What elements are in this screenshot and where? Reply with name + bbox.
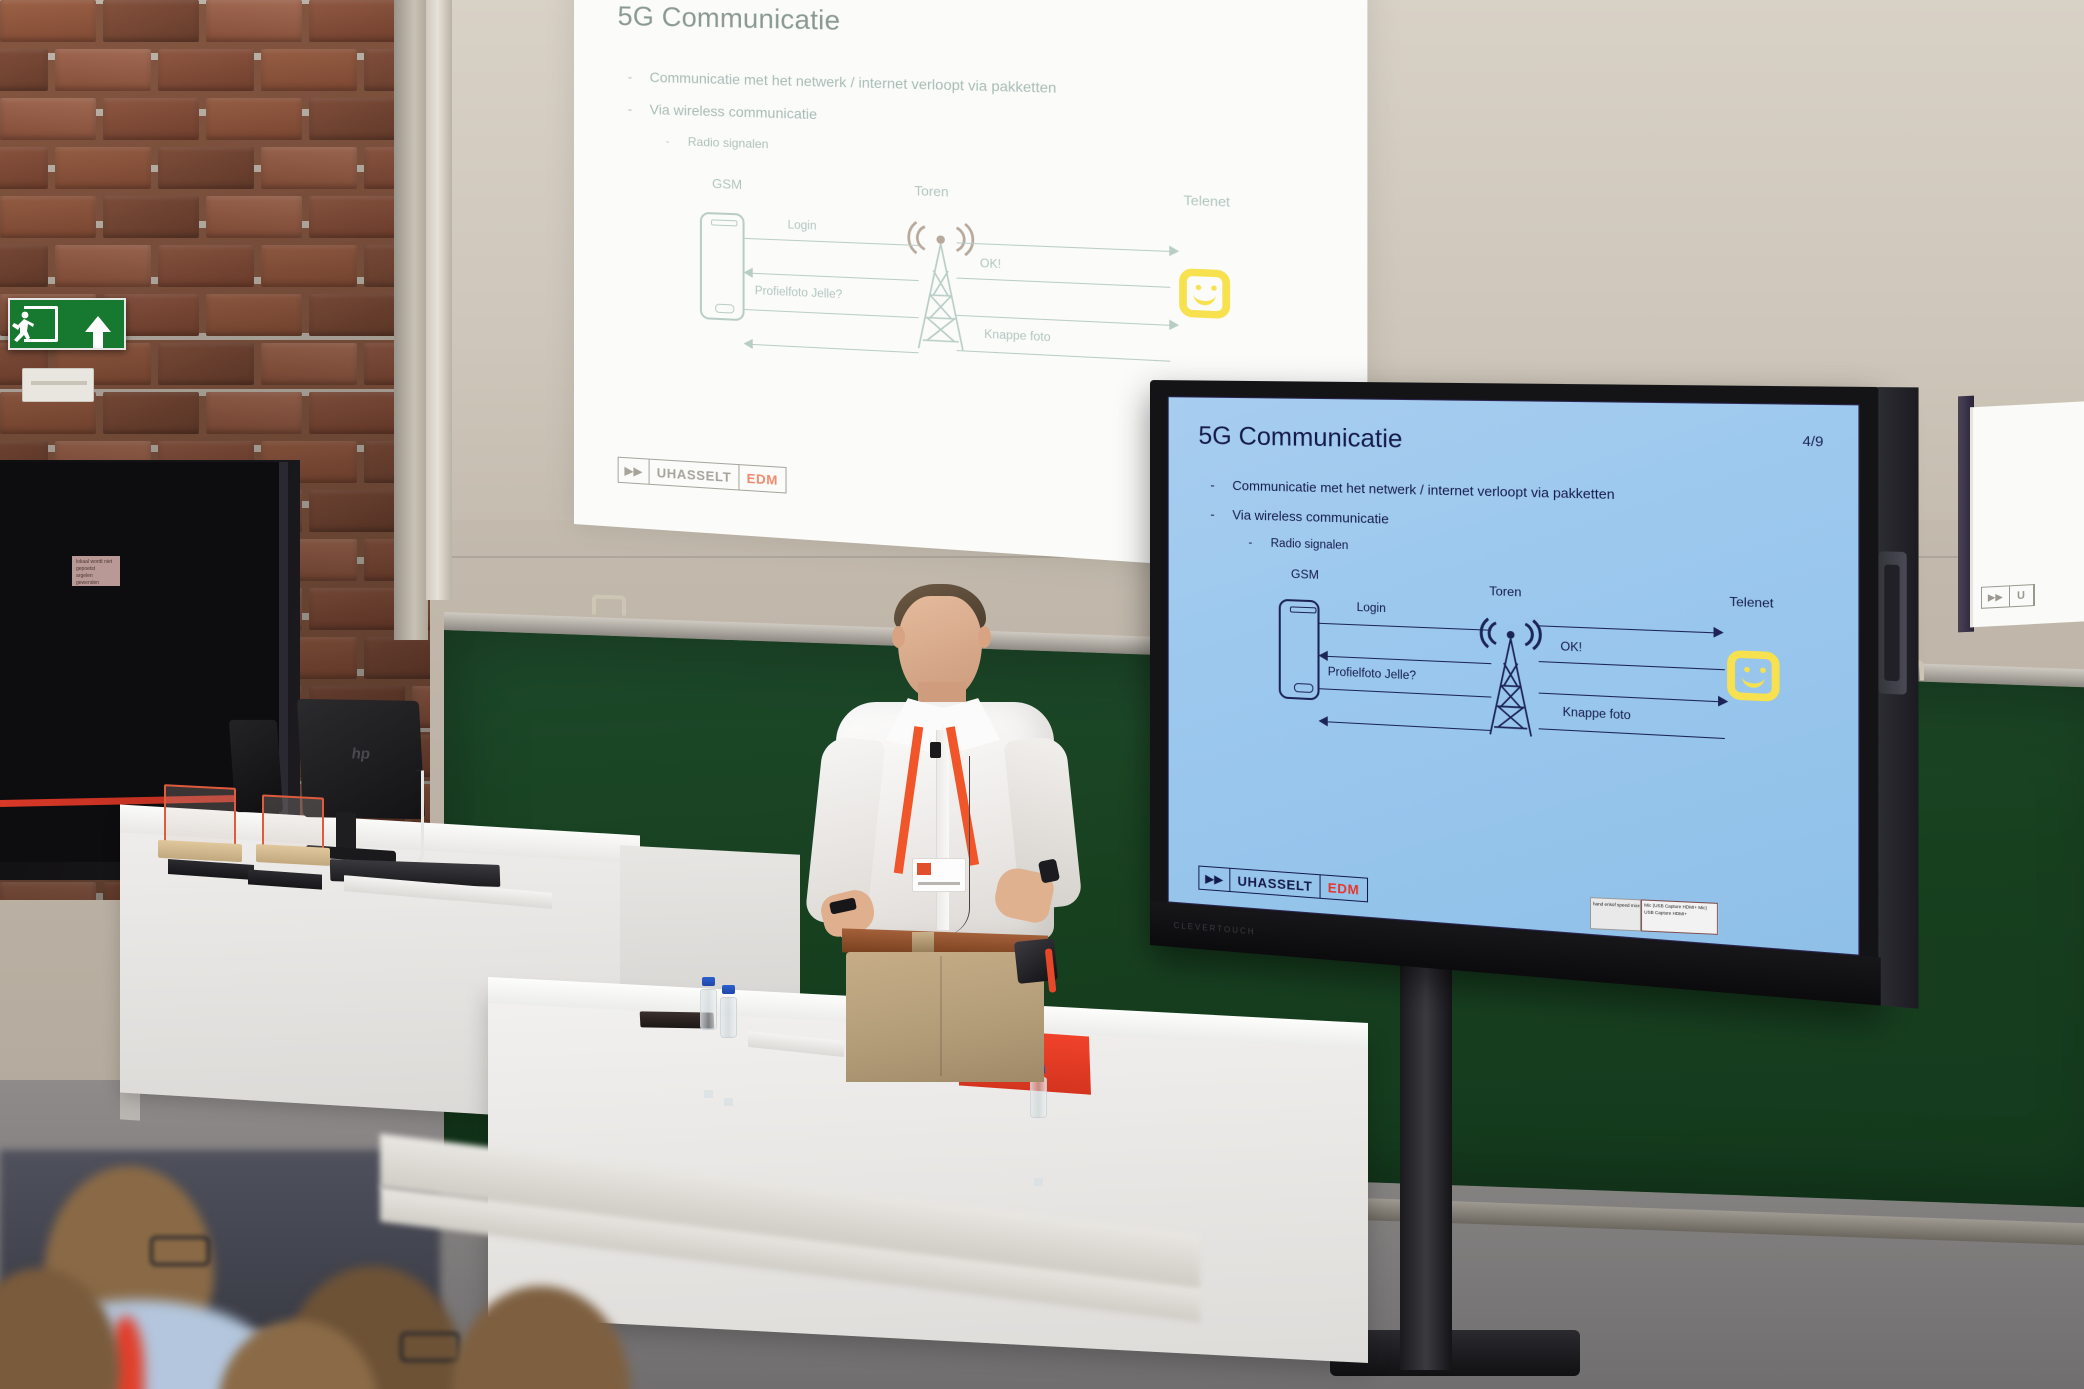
acrylic-award-2 — [262, 794, 324, 851]
tv-phone-icon — [1279, 599, 1320, 701]
tv-telenet-smiley-icon — [1727, 650, 1779, 702]
tv-side-panel — [1878, 387, 1918, 1009]
acrylic-award-base-2 — [256, 844, 330, 866]
tv-msg-line-2b — [1539, 661, 1725, 670]
projected-arrow-right-2 — [1169, 319, 1179, 330]
secondary-logo-u: U — [2010, 585, 2034, 606]
projected-msg-profielfoto: Profielfoto Jelle? — [755, 285, 843, 301]
presenter-trouser-seam — [940, 956, 942, 1076]
projected-msg-line-3b — [957, 315, 1171, 326]
lecture-hall-scene: lokaal wordt niet gepoetst argelen gewen… — [0, 0, 2084, 1389]
tv-slide-title: 5G Communicatie — [1198, 422, 1828, 463]
projected-actor-telenet: Telenet — [1184, 192, 1230, 210]
tv-logo-edm: EDM — [1321, 875, 1367, 901]
tv-msg-line-1b — [1539, 625, 1716, 633]
tv-logo-uhasselt: UHASSELT — [1230, 869, 1320, 898]
projected-subbullet-1: Radio signalen — [688, 135, 1318, 170]
logo-uhasselt: UHASSELT — [650, 460, 740, 490]
audience-glasses-1 — [150, 1236, 210, 1266]
lapel-microphone-icon — [930, 742, 941, 758]
projected-msg-line-1b — [957, 242, 1171, 252]
projected-bullet-2: Via wireless communicatie — [650, 101, 1318, 137]
tv-msg-line-4b — [1539, 728, 1725, 739]
acrylic-award-1 — [164, 784, 236, 848]
projected-msg-knappe: Knappe foto — [984, 329, 1050, 345]
projected-arrow-left-2 — [744, 338, 753, 349]
window-frame-inner — [426, 0, 452, 600]
audio-device-popup[interactable]: hand erisof speed micro → Mic (USB Captu… — [1590, 897, 1718, 935]
projected-actor-gsm: GSM — [712, 176, 742, 192]
tv-actor-gsm: GSM — [1291, 567, 1319, 582]
projected-msg-line-4b — [957, 350, 1171, 362]
tv-actor-toren: Toren — [1489, 584, 1521, 600]
secondary-uhasselt-logo: ▶▶ U — [1981, 584, 2035, 609]
tv-msg-line-3a — [1320, 688, 1492, 697]
tv-msg-login: Login — [1357, 602, 1386, 615]
tv-msg-line-4a — [1328, 721, 1492, 731]
projected-phone-icon — [700, 212, 745, 321]
bottle-cap-icon — [702, 977, 715, 986]
flat-panel-display[interactable]: 5G Communicatie 4/9 Communicatie met het… — [1150, 380, 1881, 1006]
projected-msg-line-3a — [745, 309, 919, 318]
notice-line-4: gewenden — [76, 580, 116, 586]
projected-bullet-1: Communicatie met het netwerk / internet … — [650, 69, 1318, 103]
tv-msg-knappe: Knappe foto — [1563, 706, 1631, 722]
tv-arrow-right-2 — [1718, 696, 1728, 707]
wireless-mic-transmitter — [1014, 938, 1058, 984]
wall-mounted-box — [22, 368, 94, 402]
tv-carry-handle[interactable] — [1878, 551, 1906, 695]
water-bottle-1 — [700, 978, 717, 1030]
up-arrow-icon — [85, 316, 111, 332]
tv-msg-ok: OK! — [1560, 641, 1582, 655]
projected-slide-title: 5G Communicatie — [618, 1, 1318, 47]
tv-msg-line-1a — [1320, 623, 1492, 631]
tv-page-indicator: 4/9 — [1803, 433, 1824, 450]
presenter-trousers — [846, 952, 1044, 1082]
tv-sequence-diagram: GSM Toren Telenet — [1198, 570, 1828, 809]
tv-actor-telenet: Telenet — [1729, 594, 1773, 611]
notice-line-3: argelen — [76, 573, 116, 580]
projected-tower-icon — [902, 217, 980, 353]
tv-tower-icon — [1474, 614, 1547, 739]
tv-arrow-left-2 — [1319, 716, 1328, 727]
tv-subbullet-1: Radio signalen — [1271, 538, 1828, 568]
tv-logo-chevron-icon: ▶▶ — [1199, 867, 1230, 891]
tv-bullet-list: Communicatie met het netwerk / internet … — [1198, 477, 1828, 567]
projected-msg-ok: OK! — [980, 258, 1001, 271]
monitor-cable — [408, 769, 424, 866]
tv-bullet-2: Via wireless communicatie — [1232, 507, 1828, 539]
emergency-exit-sign — [8, 298, 126, 350]
audience-glasses-2 — [400, 1332, 460, 1362]
projected-telenet-smiley-icon — [1179, 268, 1230, 319]
window-frame-outer — [394, 0, 428, 640]
tv-stand-pole — [1400, 930, 1452, 1370]
bottle-cap-icon-2 — [722, 985, 735, 994]
projected-msg-line-1a — [745, 238, 919, 246]
projected-arrow-left-1 — [744, 267, 753, 278]
tv-arrow-left-1 — [1319, 650, 1328, 661]
wall-notice: lokaal wordt niet gepoetst argelen gewen… — [72, 556, 120, 586]
projected-bullet-list: Communicatie met het netwerk / internet … — [618, 68, 1318, 169]
running-man-icon — [10, 311, 36, 343]
projected-actor-toren: Toren — [914, 183, 948, 200]
projected-msg-line-4a — [753, 344, 919, 353]
logo-edm: EDM — [740, 465, 786, 492]
popup-option-list[interactable]: Mic (USB Capture HDMI+ Mic) USB Capture … — [1641, 899, 1718, 934]
secondary-logo-chevron-icon: ▶▶ — [1982, 586, 2010, 607]
projected-msg-line-2a — [753, 273, 919, 281]
tv-msg-line-3b — [1539, 693, 1721, 703]
projected-uhasselt-logo: ▶▶ UHASSELT EDM — [618, 457, 787, 494]
presenter-ear-left — [892, 626, 905, 648]
logo-chevron-icon: ▶▶ — [619, 458, 650, 484]
projected-arrow-right-1 — [1169, 246, 1179, 257]
tv-arrow-right-1 — [1714, 627, 1724, 638]
tv-uhasselt-logo: ▶▶ UHASSELT EDM — [1198, 865, 1367, 902]
presenter — [800, 570, 1100, 1040]
projected-msg-login: Login — [788, 219, 817, 232]
tv-screen[interactable]: 5G Communicatie 4/9 Communicatie met het… — [1168, 396, 1860, 956]
water-bottle-2 — [720, 986, 737, 1038]
presenter-name-badge — [912, 858, 966, 892]
projected-msg-line-2b — [957, 278, 1171, 288]
exit-door-icon — [24, 306, 58, 342]
tv-msg-profielfoto: Profielfoto Jelle? — [1328, 666, 1416, 682]
tv-bullet-1: Communicatie met het netwerk / internet … — [1232, 478, 1828, 507]
tv-brand-name: CLEVERTOUCH — [1174, 920, 1256, 936]
popup-hint-label: hand erisof speed micro → — [1590, 897, 1641, 931]
presenter-ear-right — [978, 626, 991, 648]
notice-line-2: gepoetst — [76, 566, 116, 573]
microphone-wire — [942, 756, 970, 936]
tv-msg-line-2a — [1328, 656, 1492, 664]
secondary-projection-screen: ▶▶ U — [1970, 401, 2084, 628]
notice-line-1: lokaal wordt niet — [76, 559, 116, 566]
chalkboard-hook-left — [592, 594, 626, 615]
